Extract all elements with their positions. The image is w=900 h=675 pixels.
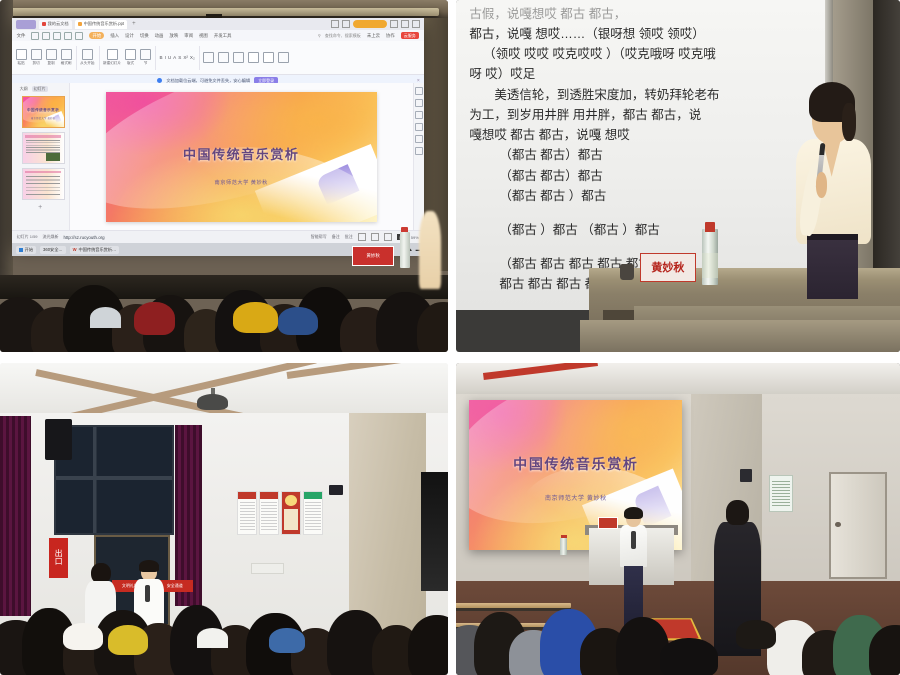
ribbon-tab-dev-tools[interactable]: 开发工具 [214,33,232,39]
ribbon-tab-start[interactable]: 开始 [89,32,104,39]
divider [155,46,156,70]
lyrics-line: （领哎 哎哎 哎克哎哎 ）（哎克哦呀 哎克哦 [469,44,806,64]
ribbon-group-list[interactable] [218,52,229,63]
poster-header [238,492,256,500]
ribbon-group-arrange[interactable] [233,52,244,63]
hand [816,172,828,197]
new-slide-icon [107,49,118,60]
poster-body [305,502,321,531]
window-controls [331,20,420,28]
undo-icon[interactable] [64,32,72,40]
cloud-status-label[interactable]: 未上云 [367,33,380,39]
ribbon-group-align[interactable] [203,52,214,63]
add-slide-button[interactable]: + [14,204,67,211]
ribbon-group-label: 从头开始 [80,61,94,66]
ribbon-group-find[interactable] [278,52,289,63]
name-plate-text: 黄妙秋 [651,259,684,275]
loudspeaker [45,419,72,460]
ribbon-group-label: 复制 [48,61,55,66]
audience-crowd [0,550,448,675]
lyrics-line: 呀 哎）哎足 [469,64,806,84]
search-icon: ⚲ [318,33,321,38]
ribbon-group-label: 粘贴 [18,61,25,66]
lyrics-line: （都古 都古 ）都古 [469,186,806,206]
projection-screen: 我的云文档 中国传统音乐赏析.ppt + [12,18,424,243]
wps-home-tab[interactable] [16,20,36,29]
bottle-label [702,253,717,278]
door-knob [835,522,840,527]
cloud-service-button[interactable]: 云服务 [401,32,419,39]
lyrics-line: 嘎想哎 都古 都古，说嘎 想哎 [469,125,806,145]
slide-subtitle: 南京师范大学 黄妙秋 [106,179,377,186]
slide-thumbnail-panel: 大纲 幻灯片 1 中国传统音乐赏析 南京师范大学 黄妙秋 2 [12,83,70,231]
thumb-title: 中国传统音乐赏析 [23,108,64,113]
ribbon-tab-insert[interactable]: 插入 [110,33,119,39]
more-tools-icon[interactable] [415,147,423,155]
name-plate: 黄妙秋 [640,253,695,281]
collage-photo-top-right: 古假，说嘎想哎 都古 都古， 都古，说嘎 想哎……（银呀想 领哎 领哎） （领哎… [456,0,900,352]
cut-icon [31,49,42,60]
lyrics-line: （都古 都古）都古 [469,145,806,165]
ribbon-group-label: 节 [144,61,148,66]
poster-body [240,502,256,531]
wps-tab-label: 中国传统音乐赏析.ppt [84,21,125,27]
restore-icon[interactable] [331,20,339,28]
arrange-icon [233,52,244,63]
close-icon[interactable] [412,20,420,28]
play-icon [82,49,93,60]
ribbon-group-format-painter[interactable]: 格式刷 [61,49,72,66]
ribbon-tab-view[interactable]: 视图 [199,33,208,39]
slide-title: 中国传统音乐赏析 [106,144,377,163]
section-icon [140,49,151,60]
ribbon-group-new-slide[interactable]: 新建幻灯片 [103,49,121,66]
font-format-controls: B I U A S X² X₂ [159,55,194,60]
poster-panel [284,509,298,531]
bottle-cap [705,222,715,231]
poster-emblem [285,495,297,506]
wps-title-bar: 我的云文档 中国传统音乐赏析.ppt + [12,18,424,30]
lecturer-figure [789,88,878,299]
window-grid [56,427,172,533]
ribbon-group-label: 新建幻灯片 [103,61,121,66]
hair [624,507,642,519]
lyrics-line: 都古，说嘎 想哎……（银呀想 领哎 领哎） [469,24,806,44]
file-menu-button[interactable]: 文件 [17,33,26,39]
mug [620,264,634,280]
ribbon-group-text-box[interactable] [248,52,259,63]
poster-body [261,502,277,531]
bold-button[interactable]: B [159,55,162,60]
ribbon-tab-design[interactable]: 设计 [125,33,134,39]
camera [329,485,342,496]
ribbon-group-section[interactable]: 节 [140,49,151,66]
shape-icon [263,52,274,63]
collage-photo-top-left: 我的云文档 中国传统音乐赏析.ppt + [0,0,448,352]
poster-header [304,492,322,500]
paste-icon [16,49,27,60]
collage-photo-bottom-right: 中国传统音乐赏析 南京师范大学 黄妙秋 [456,363,900,675]
wps-tab-presentation[interactable]: 中国传统音乐赏析.ppt [75,20,128,29]
italic-button[interactable]: I [165,55,166,60]
ribbon-group-label: 剪切 [33,61,40,66]
find-icon [278,52,289,63]
print-icon[interactable] [42,32,50,40]
wps-tab-cloud-docs[interactable]: 我的云文档 [39,20,72,29]
settings-icon[interactable] [415,135,423,143]
safety-sign [769,475,793,511]
split-icon[interactable] [342,20,350,28]
superscript-button[interactable]: X² [183,55,188,60]
wps-workspace: 大纲 幻灯片 1 中国传统音乐赏析 南京师范大学 黄妙秋 2 [12,83,424,231]
layout-panel-icon[interactable] [415,87,423,95]
projected-lyrics-text: 古假，说嘎想哎 都古 都古， 都古，说嘎 想哎……（银呀想 领哎 领哎） （领哎… [469,4,806,295]
ribbon-group-layout[interactable]: 版式 [125,49,136,66]
poster [237,491,257,535]
divider [76,46,77,70]
audience-crowd [456,544,900,675]
collage-photo-bottom-left: 出 口 文明礼貌 安全通道 [0,363,448,675]
divider [199,46,200,70]
window [54,425,174,535]
ribbon-group-copy[interactable]: 复制 [46,49,57,66]
wps-ppt-icon [78,22,82,26]
head [726,500,748,525]
minimize-icon[interactable] [390,20,398,28]
thumbnail-tabs: 大纲 幻灯片 [14,85,67,94]
tab-outline[interactable]: 大纲 [20,86,28,92]
preview-icon[interactable] [53,32,61,40]
lyrics-line: （都古 都古）都古 [469,166,806,186]
current-slide[interactable]: 中国传统音乐赏析 南京师范大学 黄妙秋 [106,92,377,222]
console-rail [580,320,900,352]
lyrics-line: 美透信轮，到透胜宋度加，转奶拜轮老布 [469,85,806,105]
divider [99,46,100,70]
underline-button[interactable]: U [168,55,171,60]
wps-doc-icon [42,22,46,26]
ribbon-group-shape[interactable] [263,52,274,63]
belt [807,234,859,240]
save-icon[interactable] [31,32,39,40]
ribbon-group-start-show[interactable]: 从头开始 [80,49,94,66]
tab-slides[interactable]: 幻灯片 [32,86,48,92]
slide-editing-stage[interactable]: 中国传统音乐赏析 南京师范大学 黄妙秋 [70,83,413,231]
strikethrough-button[interactable]: S [178,55,181,60]
membership-badge[interactable] [353,20,387,28]
photo-collage: 我的云文档 中国传统音乐赏析.ppt + [0,0,900,675]
resources-icon[interactable] [415,111,423,119]
image-library-icon[interactable] [415,123,423,131]
projected-slide-title: 中国传统音乐赏析 [469,454,682,474]
layout-icon [125,49,136,60]
ceiling-fan [197,394,228,410]
text-box-icon [248,52,259,63]
camera [740,469,752,481]
redo-icon[interactable] [75,32,83,40]
align-icon [203,52,214,63]
lyrics-line: 为工，到岁用井胖 用井胖，都古 都古，说 [469,105,806,125]
slide-thumbnail-2[interactable]: 2 [22,132,65,164]
notice-poster-group [237,491,322,535]
wps-tab-label: 我的云文档 [48,21,69,27]
wps-ribbon: 粘贴 剪切 复制 格式刷 [12,41,424,75]
ribbon-group-paste[interactable]: 粘贴 [16,49,27,66]
thumb-subtitle: 南京师范大学 黄妙秋 [23,116,64,120]
poster-red [281,491,301,535]
lyrics-line: （都古 ）都古 （都古 ）都古 [469,220,806,240]
bullet-list-icon [218,52,229,63]
search-placeholder: 查找命令、搜索模板 [325,33,361,39]
ribbon-group-cut[interactable]: 剪切 [31,49,42,66]
trousers [807,236,859,299]
right-tool-rail [413,83,424,231]
lyrics-line: 古假，说嘎想哎 都古 都古， [469,4,806,24]
audience-crowd [0,232,448,352]
design-idea-icon[interactable] [415,99,423,107]
maximize-icon[interactable] [401,20,409,28]
subscript-button[interactable]: X₂ [190,55,195,60]
ribbon-group-label: 格式刷 [61,61,72,66]
poster [303,491,323,535]
projected-slide-subtitle: 南京师范大学 黄妙秋 [469,493,682,502]
command-search[interactable]: ⚲ 查找命令、搜索模板 [318,33,361,39]
quick-access-toolbar [31,32,83,40]
text-effect-button[interactable]: A [173,55,176,60]
ribbon-tab-review[interactable]: 审阅 [184,33,193,39]
slide-thumbnail-3[interactable]: 3 [22,168,65,200]
slide-thumbnail-1[interactable]: 1 中国传统音乐赏析 南京师范大学 黄妙秋 [22,96,65,128]
ribbon-tab-animation[interactable]: 动画 [155,33,164,39]
poster [259,491,279,535]
wps-ribbon-tabs: 文件 开始 插入 设计 切换 动画 放映 审阅 视图 [12,30,424,41]
ribbon-group-label: 版式 [127,61,134,66]
copy-icon [46,49,57,60]
new-tab-button[interactable]: + [132,21,136,27]
format-painter-icon [61,49,72,60]
hair-side [842,103,856,141]
whiteboard-rail [9,8,439,16]
collaborate-button[interactable]: 协作 [386,33,395,39]
wps-office-window: 我的云文档 中国传统音乐赏析.ppt + [12,18,424,243]
ribbon-tab-transition[interactable]: 切换 [140,33,149,39]
poster-header [260,492,278,500]
sign-text-lines [772,481,790,508]
ribbon-tab-slideshow[interactable]: 放映 [169,33,178,39]
